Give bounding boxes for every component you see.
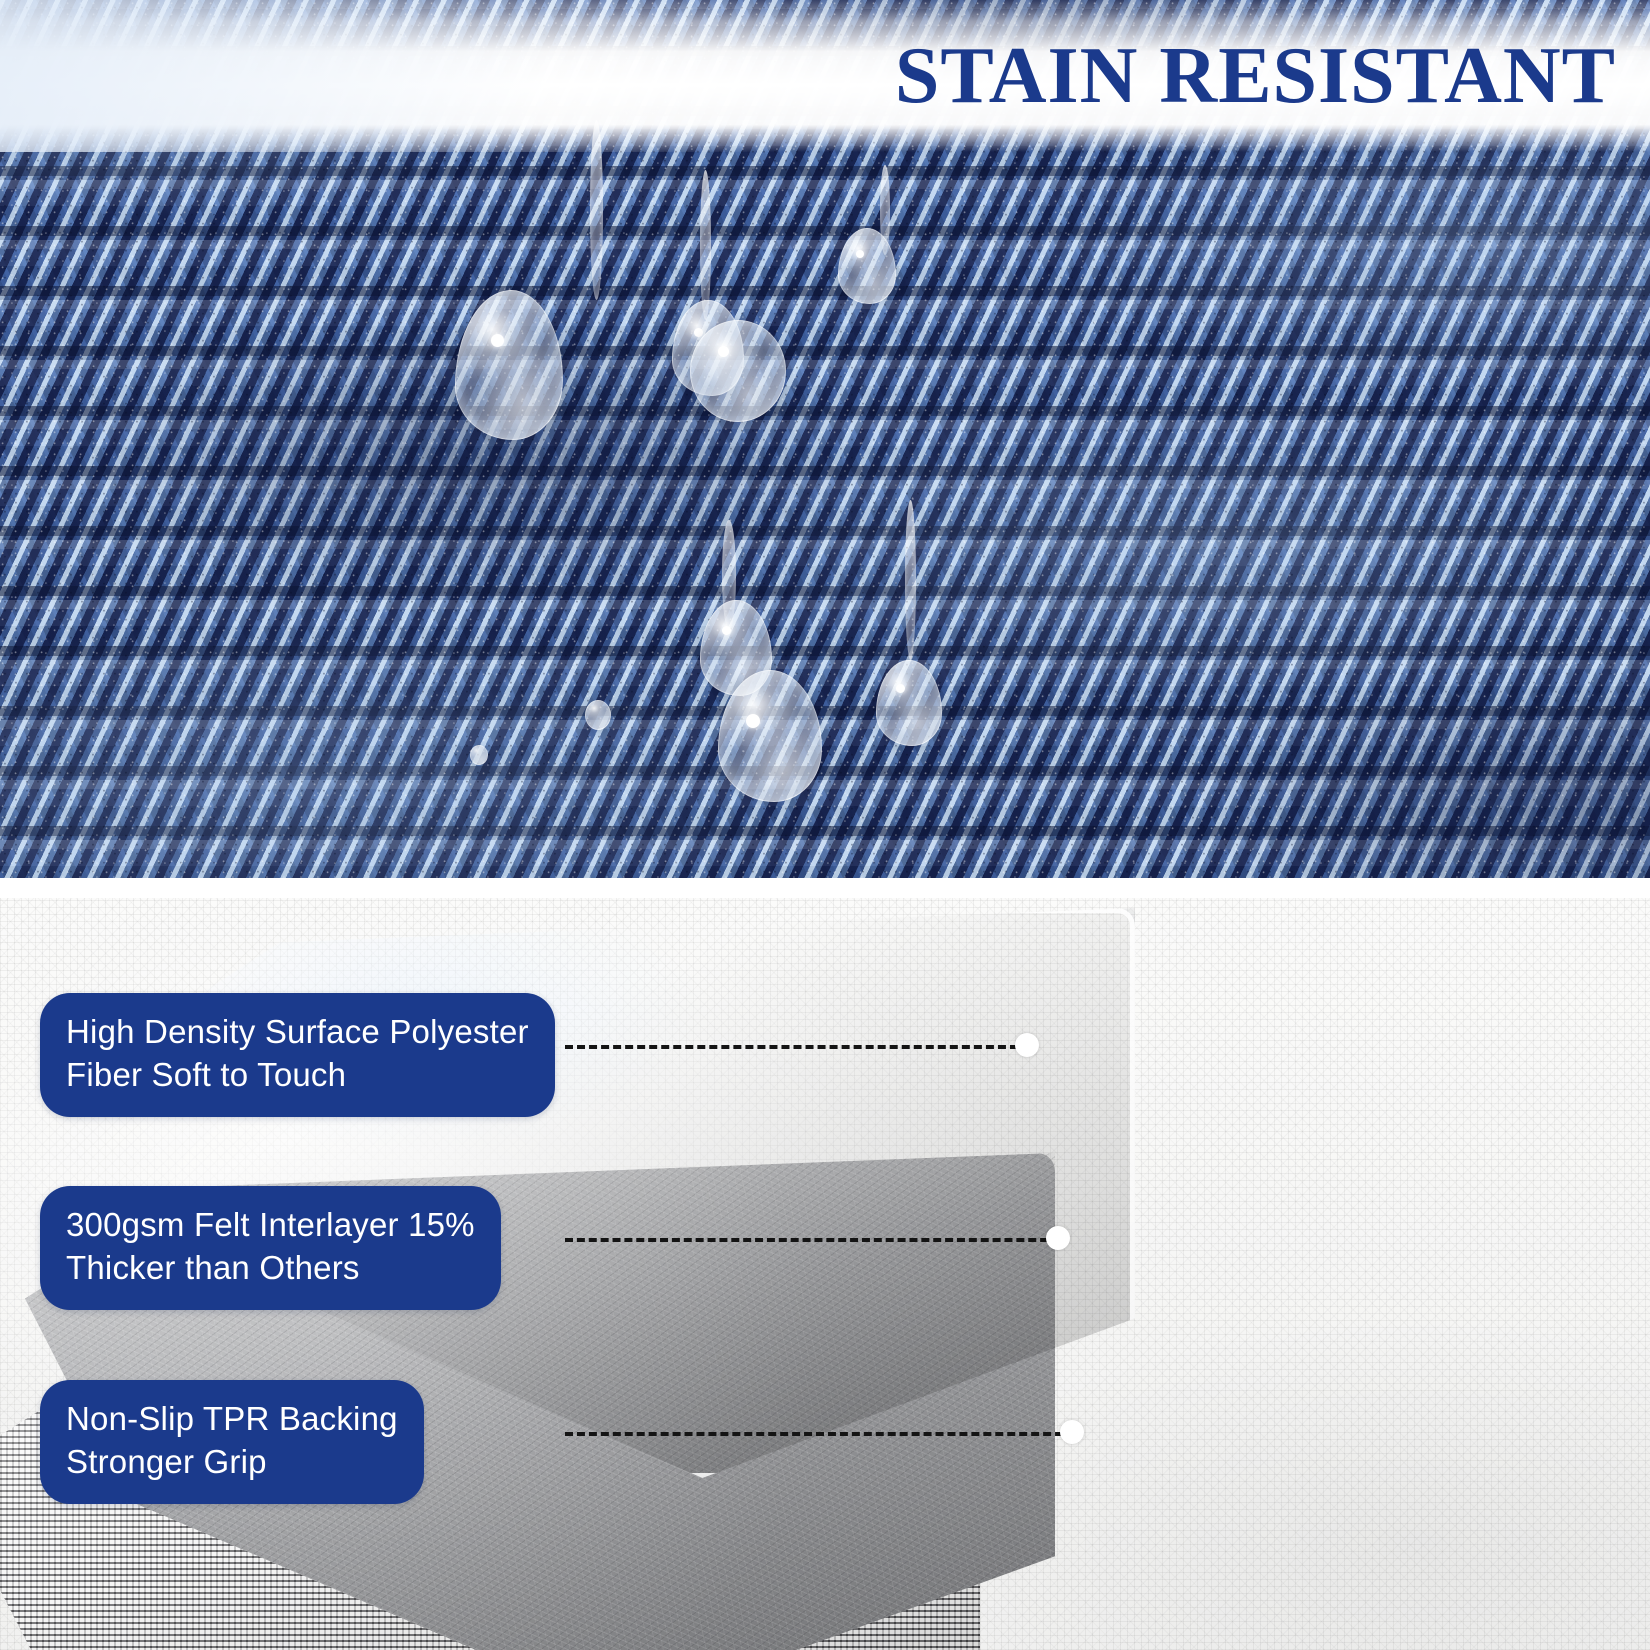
node-dot-felt <box>1046 1226 1070 1250</box>
feature-surface-line1: High Density Surface Polyester <box>66 1011 529 1054</box>
panel-divider <box>0 878 1650 898</box>
leader-line-backing <box>565 1432 1075 1436</box>
feature-backing-line2: Stronger Grip <box>66 1441 398 1484</box>
page-title: STAIN RESISTANT <box>895 36 1616 116</box>
leader-line-surface <box>565 1045 1030 1049</box>
product-infographic: STAIN RESISTANT High <box>0 0 1650 1650</box>
feature-label-surface[interactable]: High Density Surface Polyester Fiber Sof… <box>40 993 555 1117</box>
feature-backing-line1: Non-Slip TPR Backing <box>66 1398 398 1441</box>
leader-line-felt <box>565 1238 1060 1242</box>
rug-fiber-speckle <box>0 0 1650 878</box>
stain-resistant-photo-panel: STAIN RESISTANT <box>0 0 1650 878</box>
feature-felt-line2: Thicker than Others <box>66 1247 475 1290</box>
node-dot-backing <box>1060 1420 1084 1444</box>
feature-label-felt[interactable]: 300gsm Felt Interlayer 15% Thicker than … <box>40 1186 501 1310</box>
layer-construction-panel: High Density Surface Polyester Fiber Sof… <box>0 898 1650 1650</box>
node-dot-surface <box>1015 1033 1039 1057</box>
feature-surface-line2: Fiber Soft to Touch <box>66 1054 529 1097</box>
feature-label-backing[interactable]: Non-Slip TPR Backing Stronger Grip <box>40 1380 424 1504</box>
feature-felt-line1: 300gsm Felt Interlayer 15% <box>66 1204 475 1247</box>
